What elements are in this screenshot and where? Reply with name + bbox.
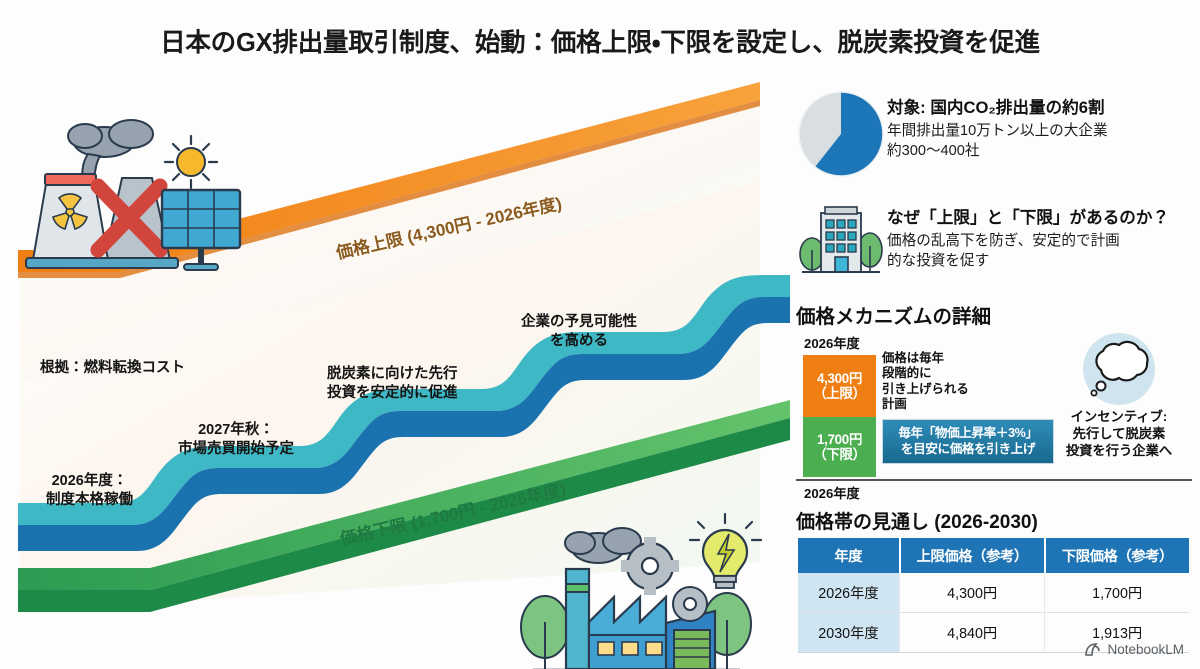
nuclear-to-solar-icon (26, 120, 240, 270)
price-outlook-table: 年度 上限価格（参考） 下限価格（参考） 2026年度 4,300円 1,700… (798, 538, 1189, 653)
fact-target-scope: 対象: 国内CO₂排出量の約6割 年間排出量10万トン以上の大企業 約300〜4… (795, 90, 1108, 178)
annotation-fuel-cost: 根拠：燃料転換コスト (40, 359, 185, 378)
fact-body: 年間排出量10万トン以上の大企業 約300〜400社 (887, 122, 1108, 162)
fact-body: 価格の乱高下を防ぎ、安定的で計画 的な投資を促す (887, 232, 1169, 272)
incentive-text: インセンティブ: 先行して脱炭素 投資を行う企業へ (1044, 409, 1194, 459)
page-title: 日本のGX排出量取引制度、始動：価格上限・下限を設定し、脱炭素投資を促進 (0, 22, 1200, 59)
mechanism-year-top: 2026年度 (804, 333, 860, 352)
mechanism-title: 価格メカニズムの詳細 (796, 300, 991, 329)
pie-chart-icon (795, 90, 887, 178)
table-col-year: 年度 (798, 538, 900, 573)
annual-increase-callout: 毎年「物価上昇率＋3%」 を目安に価格を引き上げ (882, 419, 1054, 464)
fact-text: 対象: 国内CO₂排出量の約6割 年間排出量10万トン以上の大企業 約300〜4… (887, 90, 1108, 161)
callout-line-2: を目安に価格を引き上げ (901, 442, 1035, 457)
mechanism-baseline (796, 479, 1192, 481)
table-col-upper: 上限価格（参考） (900, 538, 1045, 573)
bar-upper-value: 4,300円 (817, 371, 862, 386)
table-col-lower: 下限価格（参考） (1045, 538, 1189, 573)
fact-heading: 対象: 国内CO₂排出量の約6割 (887, 98, 1108, 119)
annotation-investment: 脱炭素に向けた先行 投資を安定的に促進 (327, 365, 458, 402)
infographic-canvas: 日本のGX排出量取引制度、始動：価格上限・下限を設定し、脱炭素投資を促進 (0, 0, 1200, 669)
bar-segment-lower: 1,700円 （下限） (803, 417, 876, 477)
cell-lower-price: 1,700円 (1045, 573, 1189, 613)
table-row: 2026年度 4,300円 1,700円 (798, 573, 1189, 613)
bar-upper-caption: （上限） (813, 386, 865, 401)
annotation-2027-market: 2027年秋： 市場売買開始予定 (178, 421, 294, 458)
cell-upper-price: 4,840円 (900, 613, 1045, 653)
annotation-predictability: 企業の予見可能性 を高める (521, 313, 637, 350)
mechanism-year-bottom: 2026年度 (804, 483, 860, 502)
table-title: 価格帯の見通し (2026-2030) (796, 507, 1038, 534)
mechanism-note: 価格は毎年 段階的に 引き上げられる 計画 (882, 351, 969, 413)
price-band-chart: 価格上限 (4,300円 - 2026年度) 価格下限 (1,700円 - 20… (0, 82, 790, 669)
watermark-label: NotebookLM (1107, 642, 1184, 657)
cell-upper-price: 4,300円 (900, 573, 1045, 613)
callout-line-1: 毎年「物価上昇率＋3%」 (898, 426, 1037, 441)
cell-year: 2030年度 (798, 613, 900, 653)
fact-heading: なぜ「上限」と「下限」があるのか？ (887, 208, 1169, 229)
office-building-icon (795, 200, 887, 278)
bar-lower-caption: （下限） (813, 447, 865, 462)
table-header-row: 年度 上限価格（参考） 下限価格（参考） (798, 538, 1189, 573)
incentive-block: インセンティブ: 先行して脱炭素 投資を行う企業へ (1044, 333, 1194, 459)
fact-text: なぜ「上限」と「下限」があるのか？ 価格の乱高下を防ぎ、安定的で計画 的な投資を… (887, 200, 1169, 271)
notebooklm-logo-icon (1084, 642, 1101, 657)
right-column: 対象: 国内CO₂排出量の約6割 年間排出量10万トン以上の大企業 約300〜4… (793, 88, 1193, 663)
price-range-bar: 4,300円 （上限） 1,700円 （下限） (803, 355, 876, 477)
bar-lower-value: 1,700円 (817, 432, 862, 447)
fact-why-caps: なぜ「上限」と「下限」があるのか？ 価格の乱高下を防ぎ、安定的で計画 的な投資を… (795, 200, 1169, 278)
mechanism-diagram: 2026年度 4,300円 （上限） 1,700円 （下限） 価格は毎年 段階的… (796, 333, 1192, 495)
annotation-2026-start: 2026年度： 制度本格稼働 (46, 472, 133, 509)
bar-segment-upper: 4,300円 （上限） (803, 355, 876, 417)
notebooklm-watermark: NotebookLM (1084, 642, 1184, 657)
thought-bubble-icon (1044, 333, 1194, 411)
cell-year: 2026年度 (798, 573, 900, 613)
